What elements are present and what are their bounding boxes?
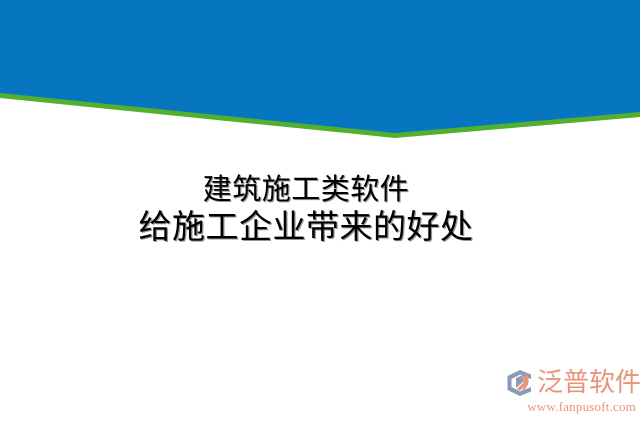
slide-title: 建筑施工类软件 给施工企业带来的好处 — [0, 172, 612, 249]
brand-logo: 泛普软件 www.fanpusoft.com — [505, 366, 637, 416]
brand-logo-row: 泛普软件 — [505, 366, 637, 399]
banner-blue-shape — [0, 0, 640, 133]
title-line-1: 建筑施工类软件 — [0, 172, 612, 208]
brand-url: www.fanpusoft.com — [505, 399, 637, 414]
banner-green-shape — [0, 0, 640, 138]
title-line-2: 给施工企业带来的好处 — [0, 208, 612, 249]
fanpu-hexagon-swoosh-icon — [505, 368, 535, 398]
brand-wordmark: 泛普软件 — [537, 368, 640, 398]
top-chevron-banner — [0, 0, 640, 150]
slide-canvas: 建筑施工类软件 给施工企业带来的好处 泛普软件 www.fanpusoft.co… — [0, 0, 640, 427]
